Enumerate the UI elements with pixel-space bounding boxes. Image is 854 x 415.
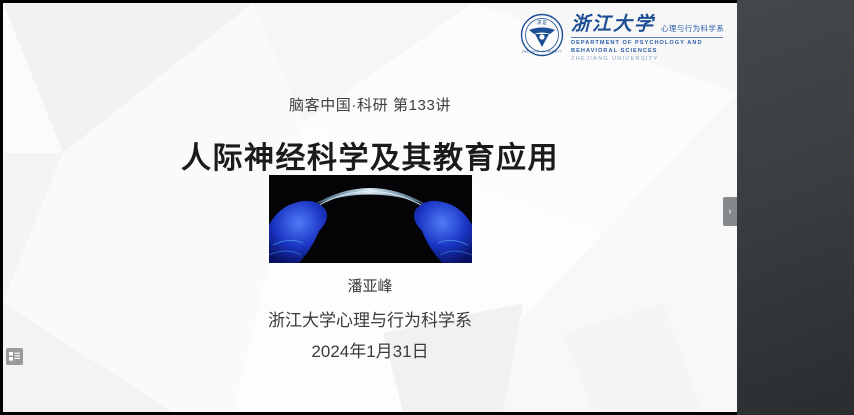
department-name-cn: 心理与行为科学系 xyxy=(661,25,724,35)
speaker-name: 潘亚峰 xyxy=(3,275,737,296)
university-logo-block: 求 是 ZHEJIANG UNIVERSITY 浙江大学 心理与行为科学系 DE… xyxy=(520,13,724,64)
slide-kicker: 脑客中国·科研 第133讲 xyxy=(3,94,737,115)
thumbnails-toggle-button[interactable] xyxy=(6,348,23,365)
screen-share-stage: 求 是 ZHEJIANG UNIVERSITY 浙江大学 心理与行为科学系 DE… xyxy=(0,0,737,415)
chevron-right-icon: › xyxy=(729,207,732,216)
department-english-line2: BEHAVIORAL SCIENCES xyxy=(571,48,724,56)
video-panel: 潘亚峰 xyxy=(737,0,854,415)
list-thumbnails-icon xyxy=(9,352,20,361)
university-english-name: ZHEJIANG UNIVERSITY xyxy=(571,56,724,64)
zhejiang-university-seal-icon: 求 是 ZHEJIANG UNIVERSITY xyxy=(520,13,564,57)
slide-title: 人际神经科学及其教育应用 xyxy=(3,133,737,177)
meeting-window: 潘亚峰 xyxy=(0,0,854,415)
speaker-affiliation: 浙江大学心理与行为科学系 xyxy=(3,306,737,331)
two-brains-illustration xyxy=(269,175,472,263)
slide-date: 2024年1月31日 xyxy=(3,337,737,362)
panel-collapse-handle[interactable]: › xyxy=(723,197,737,226)
svg-text:ZHEJIANG UNIVERSITY: ZHEJIANG UNIVERSITY xyxy=(522,50,562,54)
brain-connection-figure xyxy=(269,175,472,263)
logo-divider xyxy=(571,37,723,38)
university-wordmark: 浙江大学 xyxy=(571,15,655,34)
svg-text:求 是: 求 是 xyxy=(537,19,547,26)
presentation-slide[interactable]: 求 是 ZHEJIANG UNIVERSITY 浙江大学 心理与行为科学系 DE… xyxy=(3,3,737,412)
department-english-line1: DEPARTMENT OF PSYCHOLOGY AND xyxy=(571,40,724,48)
